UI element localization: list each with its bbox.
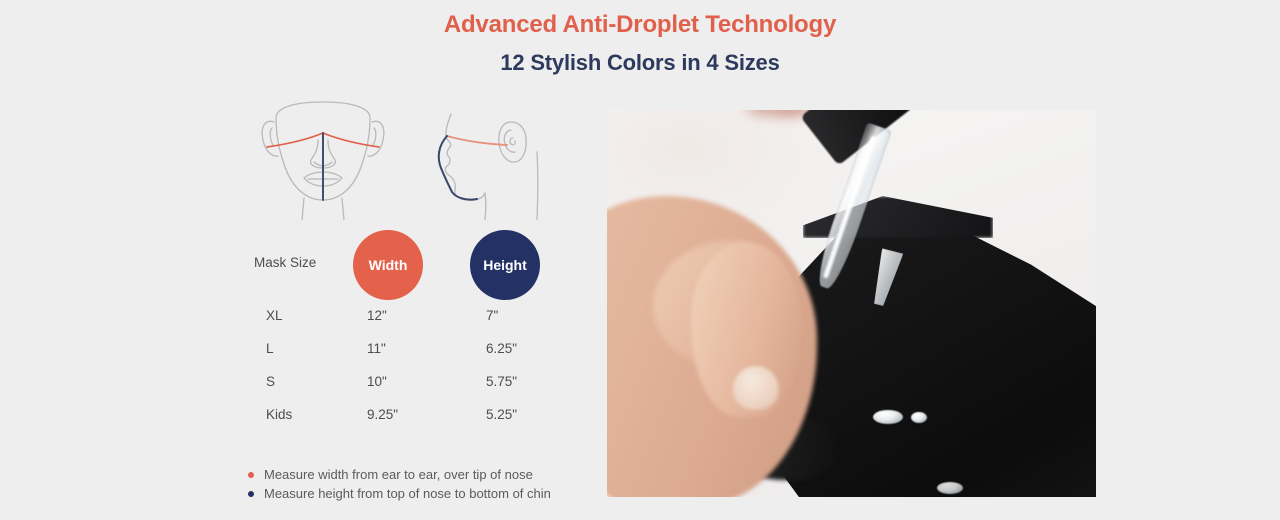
note-text: Measure height from top of nose to botto…: [264, 486, 551, 501]
cell-height: 6.25": [486, 341, 517, 356]
thumbnail: [733, 366, 779, 410]
water-bead: [873, 410, 903, 424]
water-bead: [911, 412, 927, 423]
page-subtitle: 12 Stylish Colors in 4 Sizes: [0, 46, 1280, 80]
water-droplet-repellency-demo-photo: [607, 110, 1096, 497]
table-row: S 10" 5.75": [240, 374, 580, 407]
mask-size-table: Mask Size Width Height XL 12" 7" L 11" 6…: [240, 230, 580, 440]
size-guide-panel: Mask Size Width Height XL 12" 7" L 11" 6…: [240, 100, 590, 510]
measurement-notes: Measure width from ear to ear, over tip …: [240, 465, 600, 503]
water-bead: [937, 482, 963, 494]
table-row: Kids 9.25" 5.25": [240, 407, 580, 440]
column-header-width-badge: Width: [353, 230, 423, 300]
size-table-body: XL 12" 7" L 11" 6.25" S 10" 5.75" Kids 9…: [240, 308, 580, 440]
cell-size: XL: [266, 308, 283, 323]
column-header-mask-size: Mask Size: [254, 255, 316, 270]
column-header-height-badge: Height: [470, 230, 540, 300]
cell-width: 12": [367, 308, 387, 323]
table-row: L 11" 6.25": [240, 341, 580, 374]
measurement-diagrams: [240, 100, 580, 220]
side-profile-measurement-diagram: [425, 100, 575, 220]
table-row: XL 12" 7": [240, 308, 580, 341]
page-title: Advanced Anti-Droplet Technology: [0, 8, 1280, 42]
cell-width: 10": [367, 374, 387, 389]
note-text: Measure width from ear to ear, over tip …: [264, 467, 533, 482]
cell-width: 9.25": [367, 407, 398, 422]
cell-size: L: [266, 341, 274, 356]
cell-size: Kids: [266, 407, 292, 422]
width-measure-line-side: [447, 136, 507, 145]
cell-height: 5.75": [486, 374, 517, 389]
height-badge-label: Height: [483, 257, 527, 273]
list-item: Measure height from top of nose to botto…: [240, 484, 600, 503]
cell-width: 11": [367, 341, 386, 356]
cell-height: 5.25": [486, 407, 517, 422]
bullet-dot-icon: [248, 472, 254, 478]
headings-block: Advanced Anti-Droplet Technology 12 Styl…: [0, 8, 1280, 80]
list-item: Measure width from ear to ear, over tip …: [240, 465, 600, 484]
size-table-header: Mask Size Width Height: [240, 230, 580, 302]
width-badge-label: Width: [369, 257, 408, 273]
bullet-dot-icon: [248, 491, 254, 497]
front-face-measurement-diagram: [248, 100, 398, 220]
cell-size: S: [266, 374, 275, 389]
cell-height: 7": [486, 308, 498, 323]
height-measure-line-side: [439, 136, 477, 200]
